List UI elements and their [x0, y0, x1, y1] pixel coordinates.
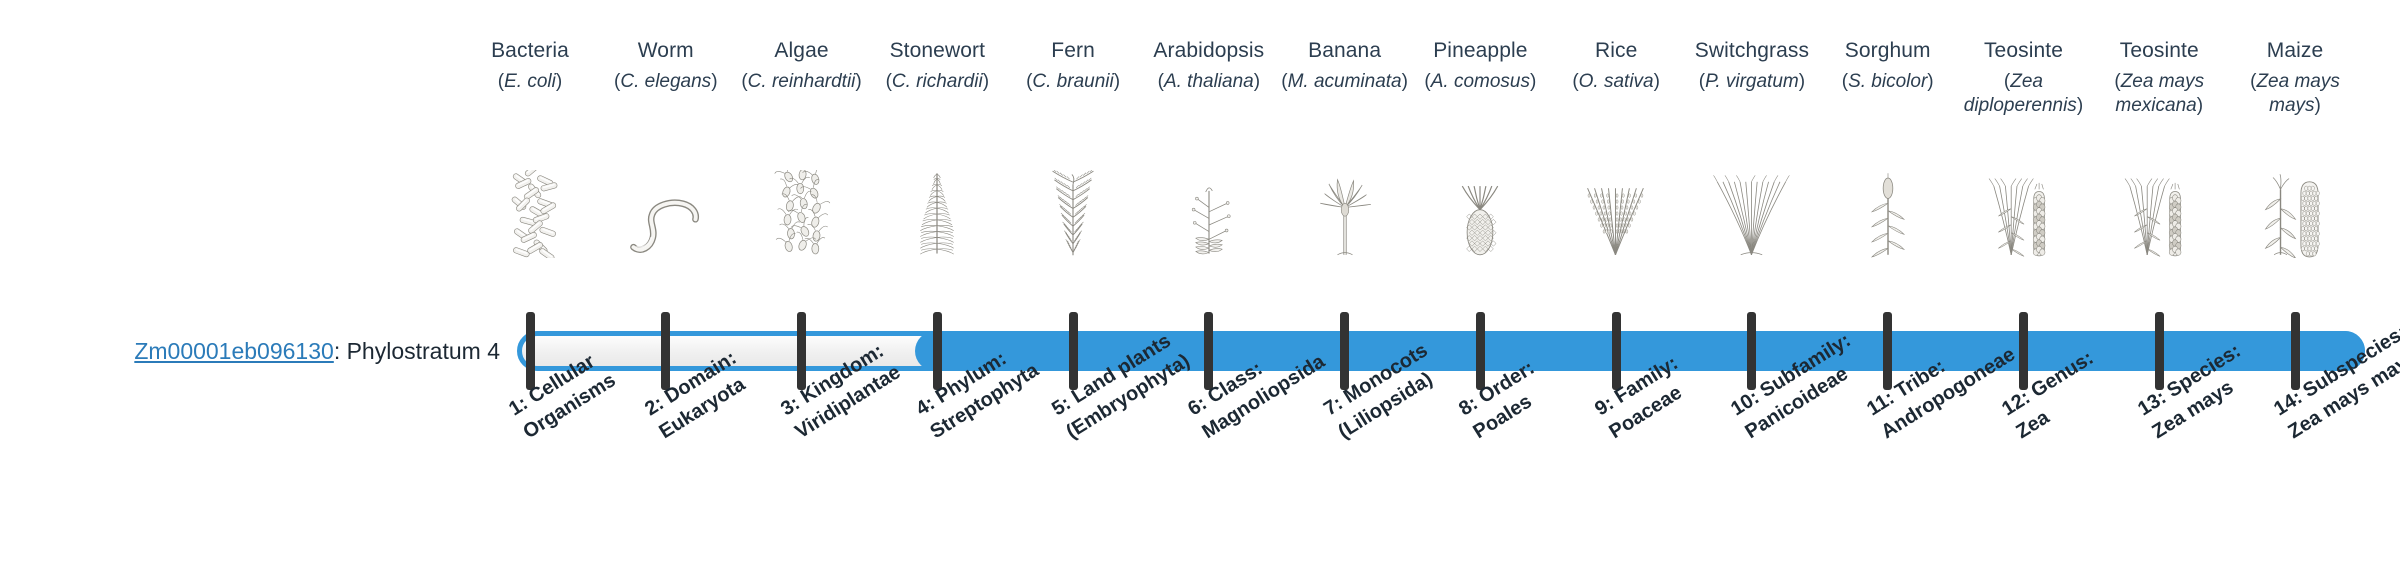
fern-frond-icon — [1041, 170, 1105, 258]
phylostratum-tick[interactable] — [2019, 312, 2028, 390]
species-column: Teosinte(Zea diploperennis) — [1956, 0, 2091, 300]
species-scientific-name: (C. reinhardtii) — [734, 70, 869, 94]
maize-plant-cob-icon — [2228, 168, 2363, 258]
phylostratum-tick[interactable] — [1612, 312, 1621, 390]
species-common-name: Rice — [1549, 38, 1684, 64]
species-column: Banana(M. acuminata) — [1277, 0, 1412, 300]
phylostratum-tick[interactable] — [1747, 312, 1756, 390]
species-column: Worm(C. elegans) — [598, 0, 733, 300]
phylostratum-tick[interactable] — [2291, 312, 2300, 390]
paren-close: ) — [1530, 71, 1536, 92]
species-column: Bacteria(E. coli) — [463, 0, 598, 300]
stonewort-alga-icon — [870, 168, 1005, 258]
species-latin-name: C. braunii — [1032, 71, 1113, 92]
species-scientific-name: (Zea diploperennis) — [1956, 70, 2091, 118]
paren-close: ) — [2077, 95, 2083, 116]
species-latin-name: C. richardii — [892, 71, 983, 92]
paren-close: ) — [711, 71, 717, 92]
paren-close: ) — [1927, 71, 1933, 92]
species-scientific-name: (E. coli) — [463, 70, 598, 94]
nematode-worm-icon — [598, 168, 733, 258]
rice-plant-icon — [1549, 168, 1684, 258]
species-column: Pineapple(A. comosus) — [1413, 0, 1548, 300]
paren-close: ) — [1402, 71, 1408, 92]
species-column: Switchgrass(P. virgatum) — [1684, 0, 1819, 300]
species-common-name: Bacteria — [463, 38, 598, 64]
species-latin-name: M. acuminata — [1288, 71, 1402, 92]
paren-close: ) — [1799, 71, 1805, 92]
species-common-name: Teosinte — [1956, 38, 2091, 64]
species-scientific-name: (C. elegans) — [598, 70, 733, 94]
species-latin-name: A. comosus — [1431, 71, 1530, 92]
phylostratum-tick[interactable] — [933, 312, 942, 390]
arabidopsis-plant-icon — [1141, 168, 1276, 258]
paren-close: ) — [2197, 95, 2203, 116]
species-column: Fern(C. braunii) — [1006, 0, 1141, 300]
teosinte-plant-ear-icon — [1956, 168, 2091, 258]
paren-close: ) — [556, 71, 562, 92]
species-common-name: Worm — [598, 38, 733, 64]
nematode-worm-icon — [627, 196, 705, 258]
teosinte-plant-ear-icon — [1967, 170, 2079, 258]
species-scientific-name: (A. thaliana) — [1141, 70, 1276, 94]
phylostratum-tick[interactable] — [1883, 312, 1892, 390]
species-common-name: Stonewort — [870, 38, 1005, 64]
species-column: Algae(C. reinhardtii) — [734, 0, 869, 300]
species-common-name: Banana — [1277, 38, 1412, 64]
species-scientific-name: (C. braunii) — [1006, 70, 1141, 94]
green-algae-cells-icon — [734, 168, 869, 258]
species-scientific-name: (M. acuminata) — [1277, 70, 1412, 94]
species-column: Rice(O. sativa) — [1549, 0, 1684, 300]
species-latin-name: Zea diploperennis — [1964, 71, 2077, 116]
phylostratum-tick[interactable] — [1069, 312, 1078, 390]
sorghum-plant-icon — [1820, 168, 1955, 258]
stonewort-alga-icon — [908, 170, 966, 258]
species-common-name: Arabidopsis — [1141, 38, 1276, 64]
pineapple-fruit-icon — [1413, 168, 1548, 258]
species-latin-name: C. reinhardtii — [748, 71, 856, 92]
banana-tree-icon — [1310, 170, 1380, 258]
species-latin-name: E. coli — [504, 71, 556, 92]
species-scientific-name: (C. richardii) — [870, 70, 1005, 94]
banana-tree-icon — [1277, 168, 1412, 258]
species-scientific-name: (P. virgatum) — [1684, 70, 1819, 94]
switchgrass-plant-icon — [1713, 170, 1791, 258]
phylostratum-tick[interactable] — [1340, 312, 1349, 390]
paren-close: ) — [983, 71, 989, 92]
species-common-name: Sorghum — [1820, 38, 1955, 64]
species-latin-name: P. virgatum — [1705, 71, 1799, 92]
bacteria-rods-icon — [463, 168, 598, 258]
species-column: Teosinte(Zea mays mexicana) — [2092, 0, 2227, 300]
species-column: Arabidopsis(A. thaliana) — [1141, 0, 1276, 300]
rice-plant-icon — [1577, 170, 1655, 258]
green-algae-cells-icon — [771, 170, 833, 258]
species-common-name: Maize — [2228, 38, 2363, 64]
species-scientific-name: (A. comosus) — [1413, 70, 1548, 94]
species-scientific-name: (S. bicolor) — [1820, 70, 1955, 94]
pineapple-fruit-icon — [1450, 170, 1510, 258]
phylostratum-tick[interactable] — [1476, 312, 1485, 390]
phylostratum-tick[interactable] — [526, 312, 535, 390]
switchgrass-plant-icon — [1684, 168, 1819, 258]
species-common-name: Fern — [1006, 38, 1141, 64]
phylostratum-chart: Zm00001eb096130: Phylostratum 4 Bacteria… — [0, 0, 2400, 580]
paren-close: ) — [855, 71, 861, 92]
phylostratum-tick[interactable] — [797, 312, 806, 390]
species-scientific-name: (Zea mays mexicana) — [2092, 70, 2227, 118]
species-column: Maize(Zea mays mays) — [2228, 0, 2363, 300]
species-scientific-name: (O. sativa) — [1549, 70, 1684, 94]
species-column: Stonewort(C. richardii) — [870, 0, 1005, 300]
species-latin-name: Zea mays mexicana — [2115, 71, 2204, 116]
teosinte-plant-ear-icon — [2103, 170, 2215, 258]
paren-close: ) — [1114, 71, 1120, 92]
species-latin-name: O. sativa — [1579, 71, 1654, 92]
species-common-name: Teosinte — [2092, 38, 2227, 64]
species-latin-name: Zea mays mays — [2256, 71, 2339, 116]
species-latin-name: A. thaliana — [1164, 71, 1254, 92]
species-common-name: Switchgrass — [1684, 38, 1819, 64]
arabidopsis-plant-icon — [1176, 170, 1242, 258]
fern-frond-icon — [1006, 168, 1141, 258]
maize-plant-cob-icon — [2239, 170, 2351, 258]
paren-close: ) — [2315, 95, 2321, 116]
species-scientific-name: (Zea mays mays) — [2228, 70, 2363, 118]
phylostratum-tick[interactable] — [1204, 312, 1213, 390]
teosinte-plant-ear-icon — [2092, 168, 2227, 258]
species-latin-name: C. elegans — [620, 71, 711, 92]
phylostratum-tick[interactable] — [2155, 312, 2164, 390]
bacteria-rods-icon — [499, 170, 561, 258]
paren-close: ) — [1254, 71, 1260, 92]
species-latin-name: S. bicolor — [1848, 71, 1927, 92]
sorghum-plant-icon — [1854, 170, 1922, 258]
paren-close: ) — [1654, 71, 1660, 92]
species-common-name: Algae — [734, 38, 869, 64]
species-column: Sorghum(S. bicolor) — [1820, 0, 1955, 300]
species-common-name: Pineapple — [1413, 38, 1548, 64]
phylostratum-tick[interactable] — [661, 312, 670, 390]
